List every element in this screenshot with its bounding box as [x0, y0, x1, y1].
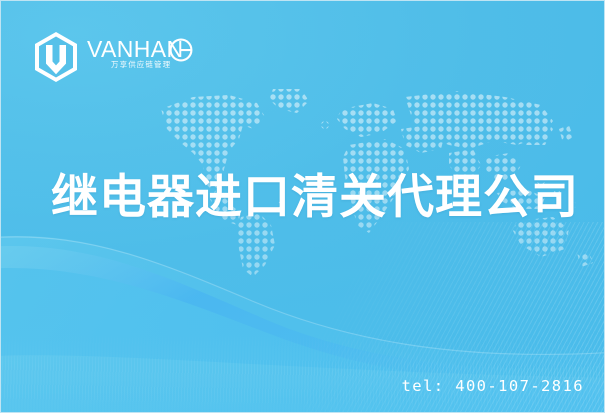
- brand-wordmark-group: VANHAN 万享供应链管理: [87, 37, 193, 77]
- page-title: 继电器进口清关代理公司: [51, 173, 579, 223]
- brand-logo[interactable]: VANHAN 万享供应链管理: [32, 31, 193, 83]
- contact-phone[interactable]: tel: 400-107-2816: [402, 377, 584, 395]
- hexagon-v-mark-icon: [32, 31, 80, 83]
- horizontal-hatch-icon: [1, 334, 605, 412]
- promo-banner: VANHAN 万享供应链管理 继电器进口清关代理公司 tel: 400-107-…: [0, 0, 605, 413]
- brand-subtitle: 万享供应链管理: [111, 59, 171, 70]
